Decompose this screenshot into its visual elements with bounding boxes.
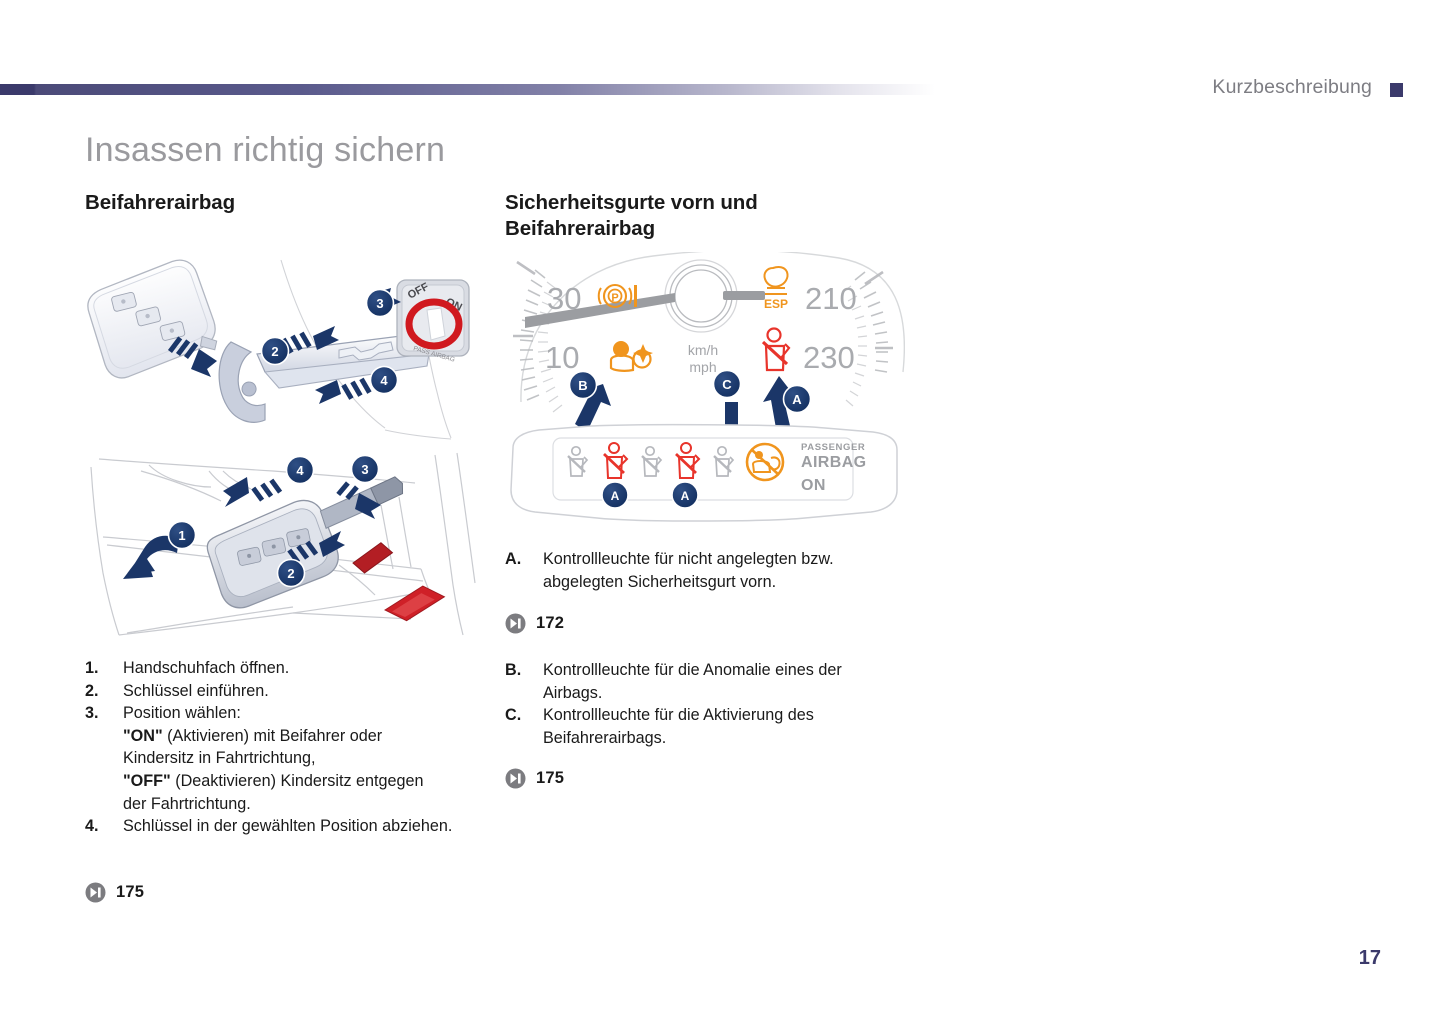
panel-label-passenger: PASSENGER	[801, 442, 865, 453]
step-marker: 1.	[85, 657, 123, 680]
svg-text:A: A	[792, 392, 802, 407]
callout-2: 2	[262, 338, 289, 365]
callout-3b: 3	[352, 456, 379, 483]
step-marker: 4.	[85, 815, 123, 838]
step3-off-label: "OFF"	[123, 772, 171, 790]
svg-text:3: 3	[376, 296, 383, 311]
seatbelt-warning-icon	[763, 329, 789, 371]
key-into-airbag-switch-diagram: OFF ON PASS AIRBAG 2 3 4	[85, 258, 485, 443]
callout-A-panel-2: A	[672, 482, 698, 508]
list-item: 3. Position wählen: "ON" (Aktivieren) mi…	[85, 702, 485, 815]
svg-text:A: A	[681, 489, 690, 503]
step-text: Schlüssel einführen.	[123, 680, 485, 703]
step-text: Position wählen: "ON" (Aktivieren) mit B…	[123, 702, 485, 815]
callout-4b: 4	[287, 457, 314, 484]
item-a-line2: abgelegten Sicherheitsgurt vorn.	[543, 573, 776, 591]
panel-label-on: ON	[801, 477, 826, 494]
airbag-warning-icon	[611, 341, 653, 371]
tick-label-10: 10	[545, 340, 579, 375]
svg-text:4: 4	[296, 463, 304, 478]
step3-line4: (Deaktivieren) Kindersitz entgegen	[171, 772, 424, 790]
list-item: 1. Handschuhfach öffnen.	[85, 657, 485, 680]
item-marker: B.	[505, 659, 543, 704]
indicator-panel: PASSENGER AIRBAG ON A A	[511, 425, 897, 521]
page-reference-number: 175	[116, 883, 144, 902]
callout-A-panel-1: A	[602, 482, 628, 508]
svg-text:3: 3	[361, 462, 368, 477]
step-marker: 2.	[85, 680, 123, 703]
right-items-bc: B. Kontrollleuchte für die Anomalie eine…	[505, 659, 905, 749]
list-item: B. Kontrollleuchte für die Anomalie eine…	[505, 659, 905, 704]
unit-primary-label: km/h	[688, 342, 718, 358]
svg-text:P: P	[611, 292, 618, 304]
item-c-line2: Beifahrerairbags.	[543, 729, 666, 747]
page-reference-number: 175	[536, 769, 564, 788]
right-column-heading-line1: Sicherheitsgurte vorn und	[505, 191, 758, 214]
list-item: A. Kontrollleuchte für nicht angelegten …	[505, 548, 905, 593]
left-column: Beifahrerairbag	[85, 190, 485, 216]
list-item: C. Kontrollleuchte für die Aktivierung d…	[505, 704, 905, 749]
unit-secondary-label: mph	[689, 359, 716, 375]
svg-text:ESP: ESP	[764, 297, 788, 311]
item-marker: A.	[505, 548, 543, 593]
item-b-line1: Kontrollleuchte für die Anomalie eines d…	[543, 661, 842, 679]
svg-text:2: 2	[271, 344, 278, 359]
step3-line3: Kindersitz in Fahrtrichtung,	[123, 749, 316, 767]
step3-line2: (Aktivieren) mit Beifahrer oder	[163, 727, 383, 745]
svg-text:B: B	[578, 378, 587, 393]
tick-label-210: 210	[805, 281, 857, 316]
callout-3: 3	[367, 290, 394, 317]
callout-C: C	[714, 371, 741, 398]
page-title: Insassen richtig sichern	[85, 131, 445, 170]
item-b-line2: Airbags.	[543, 684, 602, 702]
header-section-label: Kurzbeschreibung	[1212, 76, 1372, 99]
page-reference-175-right[interactable]: 175	[505, 768, 564, 789]
step-marker: 3.	[85, 702, 123, 815]
svg-text:A: A	[611, 489, 620, 503]
step-text: Handschuhfach öffnen.	[123, 657, 485, 680]
callout-2b: 2	[278, 560, 305, 587]
step3-line5: der Fahrtrichtung.	[123, 795, 251, 813]
page-reference-number: 172	[536, 614, 564, 633]
page-reference-icon	[505, 768, 526, 789]
left-column-heading: Beifahrerairbag	[85, 190, 485, 216]
instrument-cluster-warning-lamps-diagram: 30 10 210 230 km/h mph P ESP	[505, 252, 905, 534]
item-c-line1: Kontrollleuchte für die Aktivierung des	[543, 706, 814, 724]
page-reference-icon	[505, 613, 526, 634]
esp-warning-icon: ESP	[764, 267, 788, 311]
svg-text:1: 1	[178, 528, 185, 543]
callout-B: B	[570, 372, 597, 399]
svg-text:4: 4	[380, 373, 388, 388]
callout-4: 4	[371, 367, 398, 394]
item-text: Kontrollleuchte für die Anomalie eines d…	[543, 659, 905, 704]
svg-text:C: C	[722, 377, 732, 392]
list-item: 4. Schlüssel in der gewählten Position a…	[85, 815, 485, 838]
item-marker: C.	[505, 704, 543, 749]
right-item-a: A. Kontrollleuchte für nicht angelegten …	[505, 548, 905, 593]
item-a-line1: Kontrollleuchte für nicht angelegten bzw…	[543, 550, 834, 568]
step3-on-label: "ON"	[123, 727, 163, 745]
list-item: 2. Schlüssel einführen.	[85, 680, 485, 703]
right-column-heading-line2: Beifahrerairbag	[505, 217, 655, 240]
callout-1: 1	[169, 522, 196, 549]
callout-A: A	[784, 386, 811, 413]
left-steps-list: 1. Handschuhfach öffnen. 2. Schlüssel ei…	[85, 657, 485, 838]
header-gradient-bar	[0, 84, 935, 95]
panel-label-airbag: AIRBAG	[801, 454, 867, 471]
page-number: 17	[1359, 947, 1381, 970]
svg-text:2: 2	[287, 566, 294, 581]
right-column: Sicherheitsgurte vorn und Beifahrerairba…	[505, 190, 905, 242]
page-reference-172[interactable]: 172	[505, 613, 564, 634]
page-reference-icon	[85, 882, 106, 903]
page-reference-175-left[interactable]: 175	[85, 882, 144, 903]
square-marker-icon	[1390, 83, 1403, 97]
item-text: Kontrollleuchte für nicht angelegten bzw…	[543, 548, 905, 593]
tick-label-230: 230	[803, 340, 855, 375]
item-text: Kontrollleuchte für die Aktivierung des …	[543, 704, 905, 749]
step-text: Schlüssel in der gewählten Position abzi…	[123, 815, 485, 838]
step3-line1: Position wählen:	[123, 704, 241, 722]
glovebox-key-switch-diagram: 1 2 3 4	[85, 445, 485, 640]
